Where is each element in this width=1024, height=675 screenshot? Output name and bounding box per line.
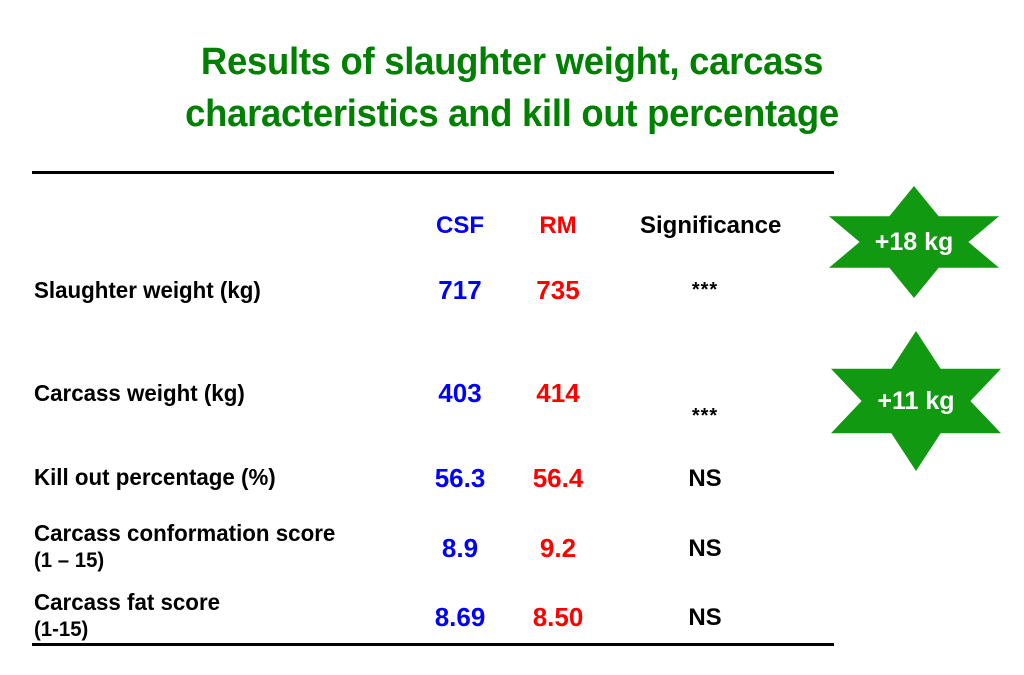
callout-badge-label: +18 kg [875,228,954,257]
column-header-csf: CSF [410,212,510,240]
callout-badge-carcass-weight-gain: +11 kg [831,331,1001,471]
row-value-significance-carcass-conformation-score: NS [640,535,770,563]
row-value-significance-slaughter-weight: *** [640,279,770,302]
row-value-rm-kill-out-percentage: 56.4 [508,463,608,494]
row-value-csf-slaughter-weight: 717 [410,275,510,306]
row-label-slaughter-weight: Slaughter weight (kg) [34,277,412,304]
callout-badge-slaughter-weight-gain: +18 kg [829,186,999,298]
row-value-rm-carcass-conformation-score: 9.2 [508,533,608,564]
row-value-significance-carcass-weight: *** [640,405,770,428]
row-label-carcass-conformation-score-main: Carcass conformation score [34,520,335,546]
row-value-csf-kill-out-percentage: 56.3 [410,463,510,494]
row-label-carcass-conformation-score: Carcass conformation score (1 – 15) [34,520,412,574]
row-value-significance-kill-out-percentage: NS [640,465,770,493]
row-label-carcass-fat-score-range: (1-15) [34,616,412,643]
row-label-carcass-conformation-score-range: (1 – 15) [34,547,412,574]
row-value-csf-carcass-fat-score: 8.69 [410,602,510,633]
row-value-significance-carcass-fat-score: NS [640,604,770,632]
row-value-csf-carcass-conformation-score: 8.9 [410,533,510,564]
slide-canvas: Results of slaughter weight, carcass cha… [0,0,1024,675]
row-label-kill-out-percentage: Kill out percentage (%) [34,464,412,491]
column-header-rm: RM [508,212,608,240]
row-label-carcass-fat-score: Carcass fat score (1-15) [34,589,412,643]
row-value-csf-carcass-weight: 403 [410,378,510,409]
callout-badge-label: +11 kg [877,387,954,416]
row-value-rm-slaughter-weight: 735 [508,275,608,306]
row-label-carcass-weight: Carcass weight (kg) [34,380,412,407]
row-value-rm-carcass-weight: 414 [508,378,608,409]
row-value-rm-carcass-fat-score: 8.50 [508,602,608,633]
row-label-carcass-fat-score-main: Carcass fat score [34,589,220,615]
column-header-significance: Significance [640,212,770,240]
